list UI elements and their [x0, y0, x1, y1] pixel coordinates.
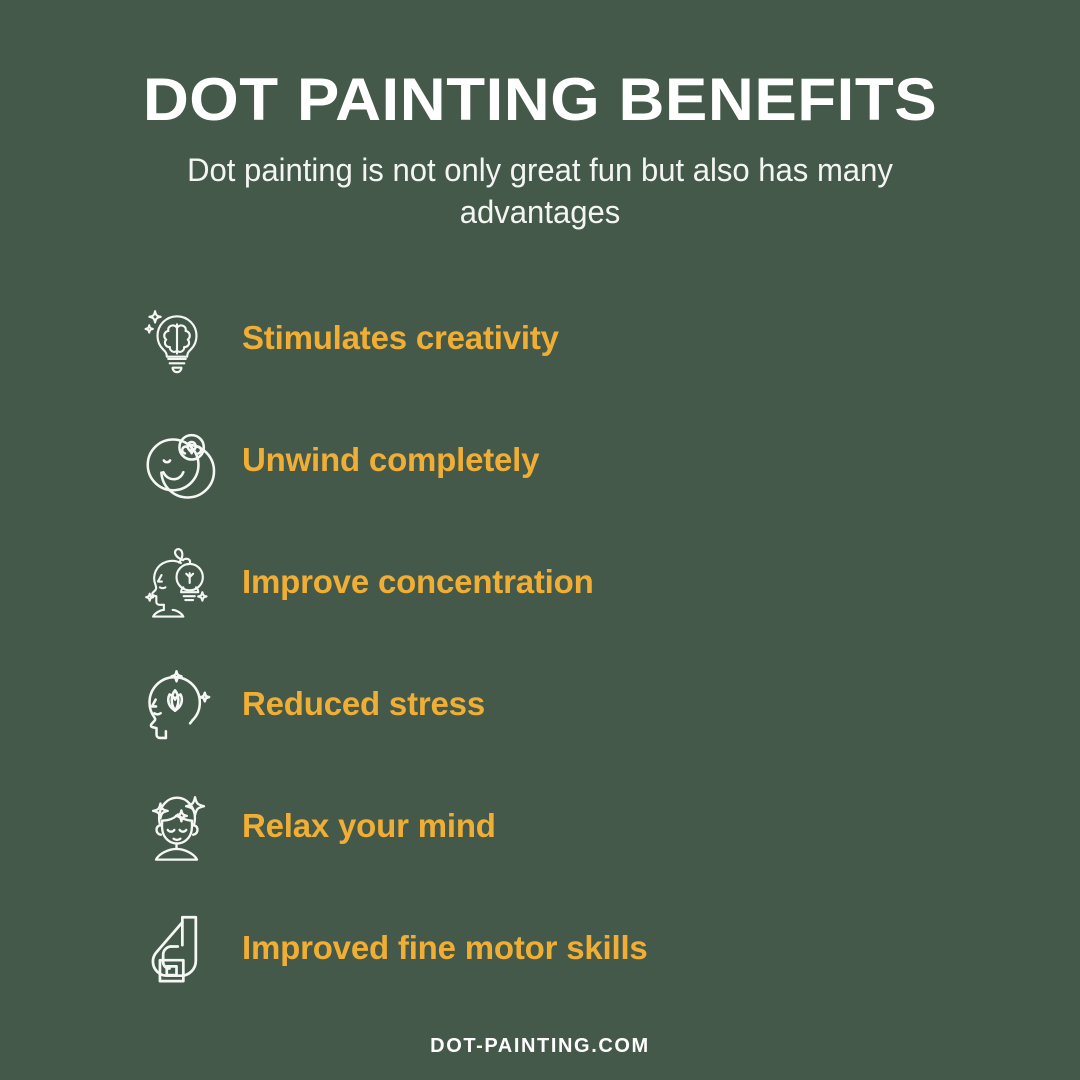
benefit-item-improved-fine-motor-skills: Improved fine motor skills [0, 887, 1080, 1009]
page-title: DOT PAINTING BENEFITS [0, 68, 1080, 131]
website-url[interactable]: DOT-PAINTING.COM [430, 1035, 650, 1057]
poster-header: DOT PAINTING BENEFITS Dot painting is no… [0, 0, 1080, 233]
benefits-list: Stimulates creativity Unwind completely [0, 277, 1080, 1009]
poster-canvas: DOT PAINTING BENEFITS Dot painting is no… [0, 0, 1080, 1080]
benefit-item-improve-concentration: Improve concentration [0, 521, 1080, 643]
benefit-item-reduced-stress: Reduced stress [0, 643, 1080, 765]
benefit-label: Improve concentration [242, 563, 594, 601]
page-subtitle: Dot painting is not only great fun but a… [157, 149, 923, 233]
smiling-face-flower-icon [138, 421, 216, 499]
benefit-item-stimulates-creativity: Stimulates creativity [0, 277, 1080, 399]
head-profile-lightbulb-icon [138, 543, 216, 621]
relaxed-face-stars-icon [138, 787, 216, 865]
hand-pinching-block-icon [138, 909, 216, 987]
benefit-label: Unwind completely [242, 441, 539, 479]
benefit-label: Stimulates creativity [242, 319, 559, 357]
benefit-item-unwind-completely: Unwind completely [0, 399, 1080, 521]
benefit-label: Relax your mind [242, 807, 496, 845]
benefit-label: Reduced stress [242, 685, 485, 723]
benefit-item-relax-your-mind: Relax your mind [0, 765, 1080, 887]
benefit-label: Improved fine motor skills [242, 929, 648, 967]
lightbulb-brain-sparkle-icon [138, 299, 216, 377]
footer: DOT-PAINTING.COM [0, 1035, 1080, 1058]
head-profile-lotus-icon [138, 665, 216, 743]
